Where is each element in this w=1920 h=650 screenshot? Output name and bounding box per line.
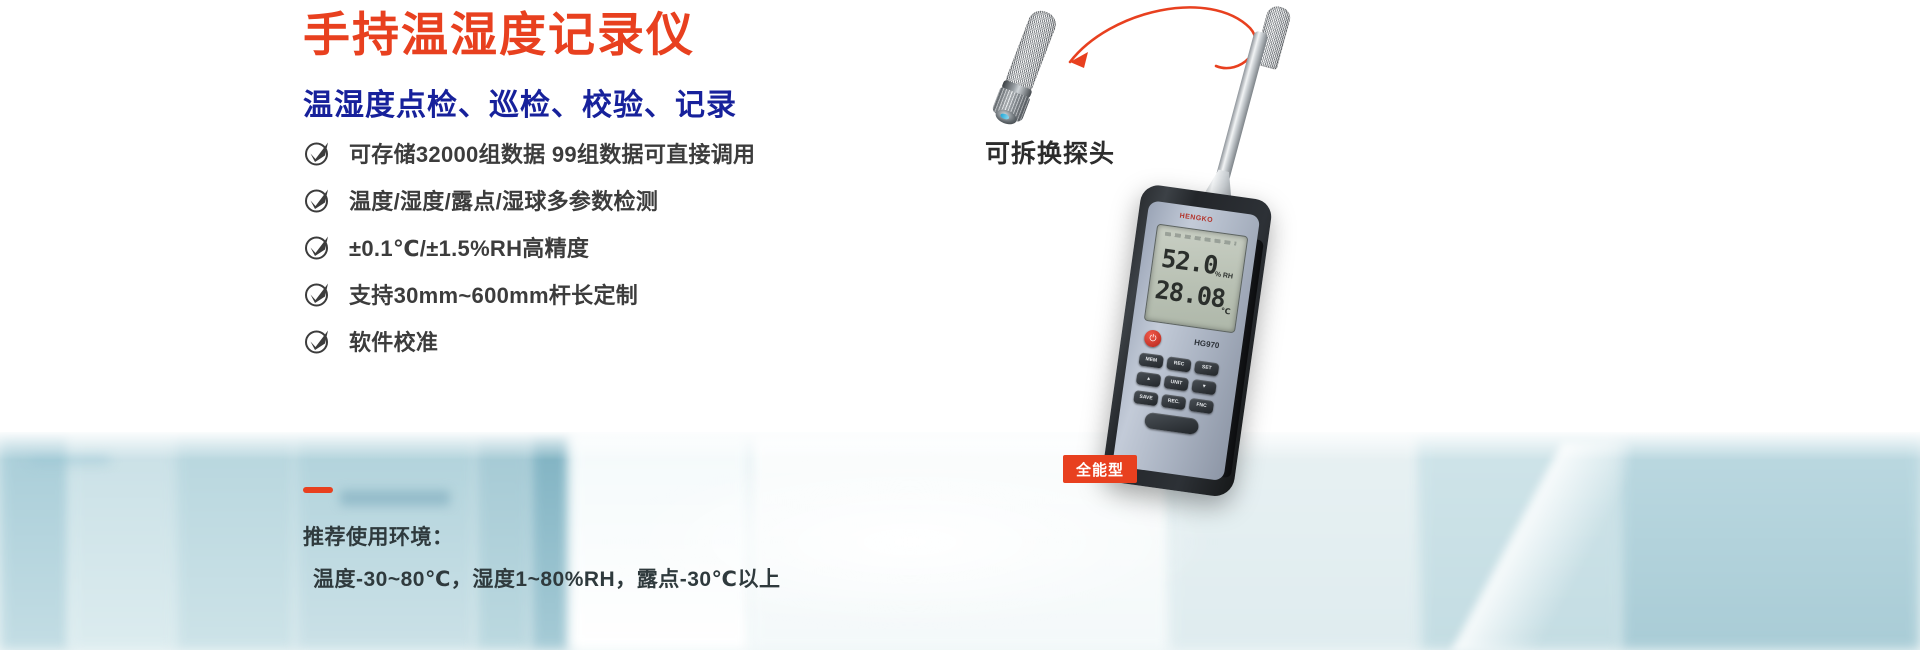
handheld-meter-image: HENGKO 52.0 % RH 28.08 ℃ ⏻ HG970 MEM REC… xyxy=(1020,20,1350,500)
lcd-temperature-value: 28.08 xyxy=(1153,275,1227,313)
device-key[interactable]: REC xyxy=(1166,356,1192,372)
banner-title: 手持温湿度记录仪 xyxy=(303,8,695,62)
device-brand-label: HENGKO xyxy=(1179,213,1213,225)
environment-note: 推荐使用环境： 温度-30~80℃，湿度1~80%RH，露点-30℃以上 xyxy=(303,487,923,593)
device-key[interactable]: SET xyxy=(1194,360,1220,376)
circle-check-icon xyxy=(303,279,333,309)
power-icon: ⏻ xyxy=(1149,333,1158,345)
list-item: 支持30mm~600mm杆长定制 xyxy=(303,271,943,317)
status-badge: 全能型 xyxy=(1063,455,1137,483)
device-key[interactable]: MEM xyxy=(1138,352,1164,368)
circle-check-icon xyxy=(303,185,333,215)
device-key-large[interactable] xyxy=(1144,412,1200,435)
accent-dash xyxy=(303,487,333,493)
circle-check-icon xyxy=(303,232,333,262)
feature-text: 可存储32000组数据 99组数据可直接调用 xyxy=(349,137,755,169)
device-model-label: HG970 xyxy=(1194,338,1220,350)
feature-text: ±0.1℃/±1.5%RH高精度 xyxy=(349,231,589,263)
device-key[interactable]: FNC xyxy=(1189,398,1215,414)
circle-check-icon xyxy=(303,138,333,168)
banner-subtitle: 温湿度点检、巡检、校验、记录 xyxy=(303,80,737,124)
power-button[interactable]: ⏻ xyxy=(1143,329,1162,348)
feature-text: 温度/湿度/露点/湿球多参数检测 xyxy=(349,184,658,216)
lcd-humidity-unit: % RH xyxy=(1214,271,1233,280)
device-lcd-screen: 52.0 % RH 28.08 ℃ xyxy=(1144,224,1249,334)
device-front-panel: HENGKO 52.0 % RH 28.08 ℃ ⏻ HG970 MEM REC… xyxy=(1112,200,1260,481)
copy-block: 手持温湿度记录仪 温湿度点检、巡检、校验、记录 可存储32000组数据 99组数… xyxy=(0,0,960,650)
feature-text: 软件校准 xyxy=(349,325,438,357)
list-item: ±0.1℃/±1.5%RH高精度 xyxy=(303,224,943,270)
device-key[interactable]: ▲ xyxy=(1136,371,1162,387)
photo-column xyxy=(1620,432,1920,650)
feature-text: 支持30mm~600mm杆长定制 xyxy=(349,278,638,310)
product-banner: 手持温湿度记录仪 温湿度点检、巡检、校验、记录 可存储32000组数据 99组数… xyxy=(0,0,1920,650)
list-item: 软件校准 xyxy=(303,318,943,364)
lcd-humidity-value: 52.0 xyxy=(1160,244,1220,281)
device-key[interactable]: UNIT xyxy=(1164,375,1190,391)
device-key[interactable]: SAVE xyxy=(1133,390,1159,406)
environment-detail: 温度-30~80℃，湿度1~80%RH，露点-30℃以上 xyxy=(303,563,923,593)
lcd-temperature-unit: ℃ xyxy=(1220,306,1231,316)
device-keypad: MEM REC SET ▲ UNIT ▼ SAVE REC. FNC xyxy=(1123,352,1229,472)
device-body: HENGKO 52.0 % RH 28.08 ℃ ⏻ HG970 MEM REC… xyxy=(1101,183,1273,498)
circle-check-icon xyxy=(303,326,333,356)
environment-heading: 推荐使用环境： xyxy=(303,521,923,551)
list-item: 温度/湿度/露点/湿球多参数检测 xyxy=(303,177,943,223)
photo-highlight xyxy=(1390,442,1630,650)
list-item: 可存储32000组数据 99组数据可直接调用 xyxy=(303,130,943,176)
device-key[interactable]: ▼ xyxy=(1191,379,1217,395)
lcd-status-bar xyxy=(1165,232,1237,246)
feature-list: 可存储32000组数据 99组数据可直接调用 温度/湿度/露点/湿球多参数检测 xyxy=(303,130,943,365)
device-key[interactable]: REC. xyxy=(1161,394,1187,410)
